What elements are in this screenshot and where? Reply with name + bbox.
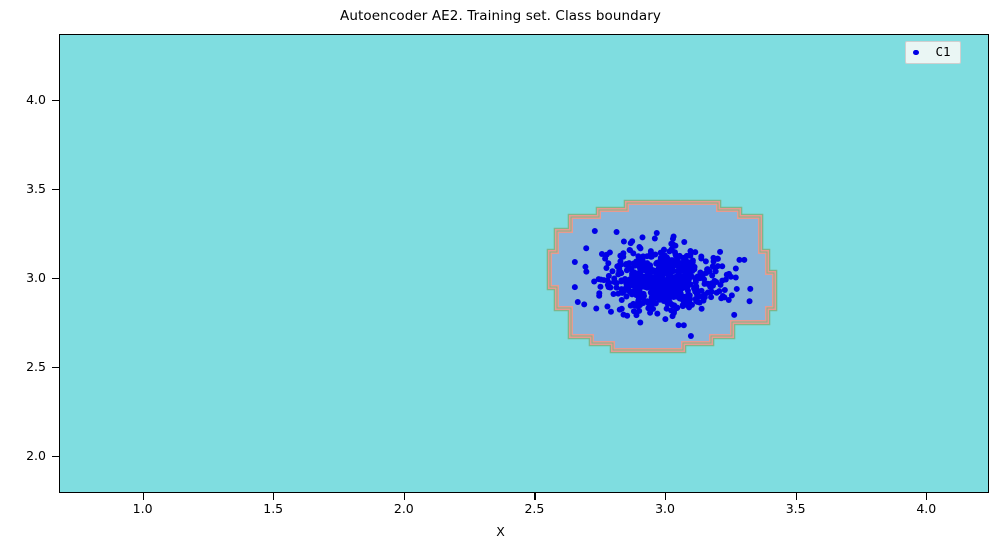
scatter-point bbox=[682, 275, 688, 281]
scatter-point bbox=[647, 310, 653, 316]
scatter-point bbox=[621, 288, 627, 294]
scatter-point bbox=[597, 284, 603, 290]
scatter-point bbox=[747, 286, 753, 292]
scatter-point bbox=[623, 294, 629, 300]
scatter-point bbox=[688, 333, 694, 339]
scatter-point bbox=[678, 290, 684, 296]
scatter-point bbox=[672, 249, 678, 255]
scatter-point bbox=[676, 274, 682, 280]
scatter-point bbox=[638, 281, 644, 287]
scatter-point bbox=[714, 290, 720, 296]
scatter-point bbox=[654, 311, 660, 317]
x-tick-mark bbox=[273, 493, 274, 500]
legend-label-c1: C1 bbox=[936, 46, 951, 59]
figure-canvas: Autoencoder AE2. Training set. Class bou… bbox=[0, 0, 1001, 547]
scatter-point bbox=[704, 266, 710, 272]
scatter-point bbox=[693, 279, 699, 285]
scatter-point bbox=[641, 293, 647, 299]
scatter-point bbox=[604, 304, 610, 310]
legend-marker-icon bbox=[913, 50, 919, 56]
scatter-point bbox=[690, 264, 696, 270]
y-tick-mark bbox=[52, 456, 59, 457]
scatter-point bbox=[731, 312, 737, 318]
scatter-point bbox=[630, 250, 636, 256]
scatter-point bbox=[614, 280, 620, 286]
scatter-point bbox=[670, 236, 676, 242]
scatter-point bbox=[659, 257, 665, 263]
scatter-point bbox=[651, 294, 657, 300]
y-tick-label: 2.5 bbox=[0, 360, 46, 373]
x-tick-label: 2.0 bbox=[374, 503, 434, 516]
scatter-point bbox=[666, 248, 672, 254]
scatter-point bbox=[687, 248, 693, 254]
scatter-point bbox=[659, 272, 665, 278]
plot-area bbox=[59, 34, 989, 493]
scatter-point bbox=[683, 257, 689, 263]
y-tick-label: 2.0 bbox=[0, 449, 46, 462]
scatter-point bbox=[634, 276, 640, 282]
scatter-point bbox=[614, 229, 620, 235]
x-tick-label: 3.5 bbox=[766, 503, 826, 516]
scatter-point bbox=[621, 238, 627, 244]
chart-title: Autoencoder AE2. Training set. Class bou… bbox=[0, 8, 1001, 24]
scatter-point bbox=[575, 299, 581, 305]
scatter-point bbox=[733, 275, 739, 281]
scatter-point bbox=[606, 284, 612, 290]
x-tick-label: 1.5 bbox=[243, 503, 303, 516]
scatter-point bbox=[611, 291, 617, 297]
scatter-point bbox=[616, 262, 622, 268]
scatter-point bbox=[649, 285, 655, 291]
scatter-point bbox=[681, 239, 687, 245]
scatter-point bbox=[637, 319, 643, 325]
y-tick-mark bbox=[52, 367, 59, 368]
scatter-point bbox=[665, 264, 671, 270]
scatter-point bbox=[607, 249, 613, 255]
scatter-point bbox=[572, 284, 578, 290]
scatter-point bbox=[632, 302, 638, 308]
scatter-point bbox=[699, 306, 705, 312]
scatter-point bbox=[616, 268, 622, 274]
scatter-point bbox=[645, 270, 651, 276]
scatter-point bbox=[669, 257, 675, 263]
scatter-point bbox=[699, 294, 705, 300]
scatter-point bbox=[734, 286, 740, 292]
scatter-point bbox=[715, 256, 721, 262]
scatter-point bbox=[633, 270, 639, 276]
y-tick-label: 4.0 bbox=[0, 94, 46, 107]
scatter-point bbox=[609, 268, 615, 274]
scatter-point bbox=[596, 290, 602, 296]
x-tick-mark bbox=[665, 493, 666, 500]
scatter-point bbox=[628, 240, 634, 246]
scatter-point bbox=[657, 297, 663, 303]
scatter-point bbox=[620, 254, 626, 260]
scatter-point bbox=[605, 260, 611, 266]
y-tick-mark bbox=[52, 189, 59, 190]
x-axis-label: X bbox=[0, 524, 1001, 539]
scatter-point bbox=[665, 301, 671, 307]
x-tick-label: 2.5 bbox=[504, 503, 564, 516]
scatter-point bbox=[722, 287, 728, 293]
y-tick-label: 3.5 bbox=[0, 183, 46, 196]
scatter-point bbox=[572, 259, 578, 265]
scatter-point bbox=[654, 230, 660, 236]
scatter-point bbox=[652, 236, 658, 242]
scatter-point bbox=[719, 263, 725, 269]
x-tick-mark bbox=[404, 493, 405, 500]
scatter-point bbox=[703, 258, 709, 264]
x-tick-label: 3.0 bbox=[635, 503, 695, 516]
scatter-point bbox=[687, 295, 693, 301]
scatter-point bbox=[599, 251, 605, 257]
scatter-point bbox=[637, 302, 643, 308]
scatter-point bbox=[681, 322, 687, 328]
scatter-point bbox=[628, 282, 634, 288]
scatter-point bbox=[660, 287, 666, 293]
scatter-point bbox=[733, 266, 739, 272]
scatter-point bbox=[709, 289, 715, 295]
x-tick-label: 1.0 bbox=[113, 503, 173, 516]
scatter-point bbox=[631, 308, 637, 314]
scatter-point bbox=[592, 228, 598, 234]
scatter-point bbox=[624, 313, 630, 319]
x-tick-mark bbox=[143, 493, 144, 500]
scatter-point bbox=[694, 299, 700, 305]
scatter-point bbox=[692, 286, 698, 292]
scatter-point bbox=[651, 268, 657, 274]
scatter-point bbox=[717, 282, 723, 288]
scatter-point bbox=[646, 301, 652, 307]
scatter-point bbox=[583, 245, 589, 251]
legend-box[interactable]: C1 bbox=[905, 41, 961, 64]
scatter-point bbox=[701, 276, 707, 282]
scatter-point bbox=[717, 249, 723, 255]
y-tick-label: 3.0 bbox=[0, 271, 46, 284]
y-tick-mark bbox=[52, 100, 59, 101]
scatter-point bbox=[676, 322, 682, 328]
scatter-point bbox=[675, 260, 681, 266]
scatter-point bbox=[581, 301, 587, 307]
scatter-point bbox=[726, 297, 732, 303]
scatter-point bbox=[671, 308, 677, 314]
scatter-point bbox=[627, 265, 633, 271]
scatter-point bbox=[652, 252, 658, 258]
scatter-point bbox=[636, 244, 642, 250]
scatter-point bbox=[593, 305, 599, 311]
scatter-point bbox=[643, 261, 649, 267]
scatter-point bbox=[741, 257, 747, 263]
scatter-point bbox=[713, 268, 719, 274]
scatter-point bbox=[598, 277, 604, 283]
scatter-point bbox=[662, 316, 668, 322]
scatter-point bbox=[604, 277, 610, 283]
scatter-point bbox=[639, 234, 645, 240]
scatter-point bbox=[689, 274, 695, 280]
scatter-point bbox=[665, 280, 671, 286]
scatter-points-layer bbox=[60, 35, 989, 493]
scatter-point bbox=[627, 276, 633, 282]
x-tick-mark bbox=[926, 493, 927, 500]
scatter-point bbox=[617, 307, 623, 313]
x-tick-mark bbox=[534, 493, 535, 500]
scatter-point bbox=[583, 269, 589, 275]
scatter-point bbox=[591, 278, 597, 284]
scatter-point bbox=[637, 265, 643, 271]
x-tick-label: 4.0 bbox=[896, 503, 956, 516]
scatter-point bbox=[680, 303, 686, 309]
y-tick-mark bbox=[52, 278, 59, 279]
scatter-point bbox=[720, 293, 726, 299]
scatter-point bbox=[608, 309, 614, 315]
scatter-point bbox=[661, 247, 667, 253]
scatter-point bbox=[640, 253, 646, 259]
scatter-point bbox=[656, 281, 662, 287]
x-tick-mark bbox=[796, 493, 797, 500]
scatter-point bbox=[747, 298, 753, 304]
